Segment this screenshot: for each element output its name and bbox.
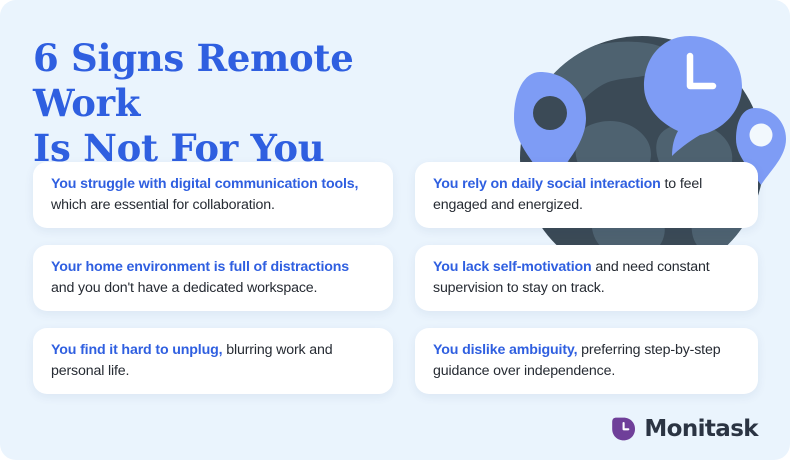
sign-card-highlight: You struggle with digital communication …: [51, 176, 358, 192]
clock-bubble-icon: [644, 36, 742, 156]
infographic-canvas: 6 Signs Remote Work Is Not For You You s…: [0, 0, 790, 460]
page-title-line-1: 6 Signs Remote Work: [33, 36, 463, 126]
sign-card-home-distractions: Your home environment is full of distrac…: [33, 245, 393, 311]
sign-card-highlight: Your home environment is full of distrac…: [51, 259, 349, 275]
sign-card-rest: which are essential for collaboration.: [51, 197, 275, 213]
sign-card-highlight: You dislike ambiguity,: [433, 342, 577, 358]
sign-card-text: Your home environment is full of distrac…: [51, 257, 375, 299]
sign-card-social-interaction: You rely on daily social interaction to …: [415, 162, 758, 228]
sign-card-highlight: You find it hard to unplug,: [51, 342, 222, 358]
brand-logo: Monitask: [610, 416, 758, 442]
sign-card-rest: and you don't have a dedicated workspace…: [51, 280, 317, 296]
brand-name: Monitask: [644, 416, 758, 442]
sign-card-text: You find it hard to unplug, blurring wor…: [51, 340, 375, 382]
globe-sphere: [520, 36, 764, 268]
sign-card-text: You lack self-motivation and need consta…: [433, 257, 740, 299]
sign-card-highlight: You rely on daily social interaction: [433, 176, 661, 192]
sign-card-text: You dislike ambiguity, preferring step-b…: [433, 340, 740, 382]
sign-card-highlight: You lack self-motivation: [433, 259, 592, 275]
sign-card-text: You struggle with digital communication …: [51, 174, 375, 216]
globe-illustration: [492, 18, 790, 268]
sign-card-text: You rely on daily social interaction to …: [433, 174, 740, 216]
sign-card-digital-communication: You struggle with digital communication …: [33, 162, 393, 228]
sign-card-hard-to-unplug: You find it hard to unplug, blurring wor…: [33, 328, 393, 394]
sign-card-self-motivation: You lack self-motivation and need consta…: [415, 245, 758, 311]
page-title: 6 Signs Remote Work Is Not For You: [33, 36, 463, 171]
monitask-clock-logo-icon: [610, 416, 636, 442]
sign-card-dislike-ambiguity: You dislike ambiguity, preferring step-b…: [415, 328, 758, 394]
